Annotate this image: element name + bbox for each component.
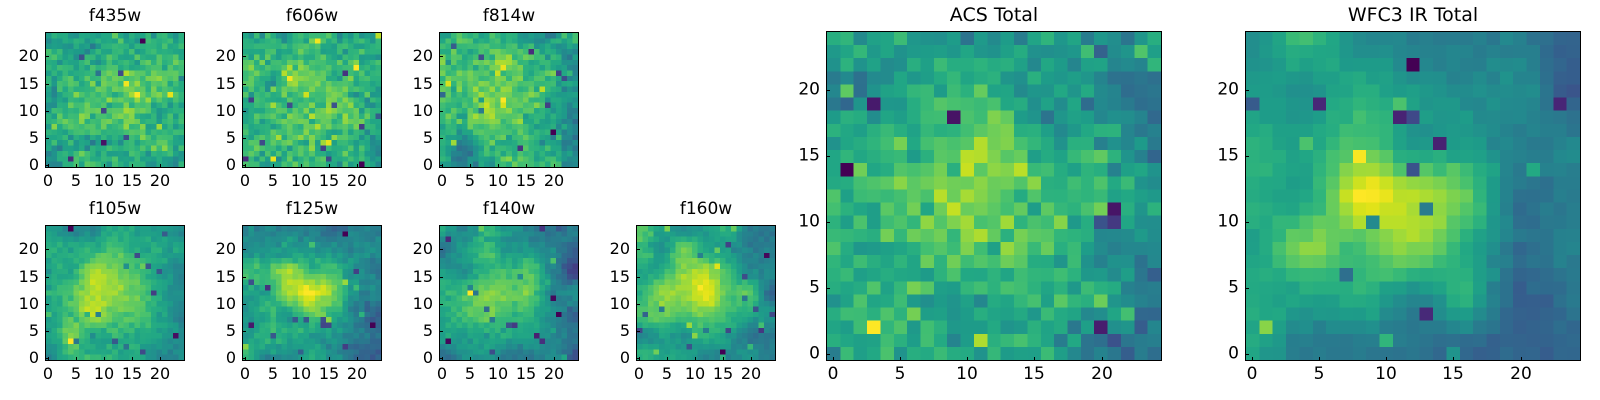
xtick-label: 0 — [437, 366, 447, 382]
heatmap-image-acs-total — [827, 32, 1161, 360]
xtick-label: 20 — [150, 173, 170, 189]
xtick-label: 20 — [544, 173, 564, 189]
ytick-label: 15 — [1199, 148, 1239, 165]
xtick-label: 0 — [437, 173, 447, 189]
ytick-label: 5 — [393, 323, 433, 339]
xtick-label: 10 — [94, 366, 114, 382]
ytick-label: 20 — [196, 48, 236, 64]
ytick-label: 20 — [0, 241, 39, 257]
ytick-label: 5 — [196, 130, 236, 146]
figure-canvas: f435w0510152005101520f606w05101520051015… — [0, 0, 1600, 400]
ytick-label: 10 — [780, 214, 820, 231]
ytick-label: 15 — [0, 76, 39, 92]
xtick-label: 10 — [685, 366, 705, 382]
ytick-label: 0 — [393, 157, 433, 173]
ytick-label: 5 — [1199, 280, 1239, 297]
xtick-label: 15 — [122, 366, 142, 382]
heatmap-image-f125w — [243, 226, 381, 360]
xtick-label: 5 — [895, 366, 906, 383]
xtick-label: 0 — [828, 366, 839, 383]
ytick-label: 5 — [196, 323, 236, 339]
panel-title-f160w: f160w — [636, 199, 776, 219]
ytick-label: 0 — [590, 350, 630, 366]
ytick-label: 0 — [780, 346, 820, 363]
ytick-label: 20 — [393, 241, 433, 257]
heatmap-axes-f125w[interactable] — [242, 225, 382, 361]
heatmap-image-f140w — [440, 226, 578, 360]
xtick-label: 0 — [43, 173, 53, 189]
ytick-label: 10 — [1199, 214, 1239, 231]
ytick-label: 5 — [393, 130, 433, 146]
panel-wfc3-ir-total: WFC3 IR Total0510152005101520 — [0, 0, 1600, 400]
heatmap-image-wfc3-ir-total — [1246, 32, 1580, 360]
ytick-label: 10 — [393, 103, 433, 119]
xtick-label: 0 — [43, 366, 53, 382]
heatmap-axes-f606w[interactable] — [242, 32, 382, 168]
xtick-label: 0 — [1247, 366, 1258, 383]
heatmap-axes-wfc3-ir-total[interactable] — [1245, 31, 1581, 361]
xtick-label: 10 — [488, 366, 508, 382]
xtick-label: 10 — [291, 173, 311, 189]
xtick-label: 10 — [956, 366, 978, 383]
xtick-label: 15 — [713, 366, 733, 382]
panel-title-f125w: f125w — [242, 199, 382, 219]
xtick-label: 15 — [319, 173, 339, 189]
heatmap-image-f814w — [440, 33, 578, 167]
ytick-label: 20 — [590, 241, 630, 257]
xtick-label: 5 — [465, 173, 475, 189]
ytick-label: 10 — [196, 103, 236, 119]
ytick-label: 20 — [0, 48, 39, 64]
heatmap-axes-acs-total[interactable] — [826, 31, 1162, 361]
heatmap-axes-f814w[interactable] — [439, 32, 579, 168]
xtick-label: 0 — [634, 366, 644, 382]
xtick-label: 20 — [1510, 366, 1532, 383]
ytick-label: 0 — [0, 350, 39, 366]
xtick-label: 20 — [1091, 366, 1113, 383]
ytick-label: 15 — [196, 76, 236, 92]
xtick-label: 15 — [319, 366, 339, 382]
xtick-label: 20 — [347, 366, 367, 382]
xtick-label: 10 — [94, 173, 114, 189]
ytick-label: 15 — [780, 148, 820, 165]
ytick-label: 15 — [393, 269, 433, 285]
xtick-label: 15 — [516, 366, 536, 382]
ytick-label: 20 — [196, 241, 236, 257]
heatmap-image-f105w — [46, 226, 184, 360]
xtick-label: 20 — [741, 366, 761, 382]
heatmap-image-f160w — [637, 226, 775, 360]
heatmap-axes-f435w[interactable] — [45, 32, 185, 168]
xtick-label: 10 — [291, 366, 311, 382]
ytick-label: 0 — [196, 157, 236, 173]
xtick-label: 5 — [71, 173, 81, 189]
ytick-label: 15 — [590, 269, 630, 285]
panel-title-f606w: f606w — [242, 6, 382, 26]
ytick-label: 10 — [590, 296, 630, 312]
xtick-label: 10 — [488, 173, 508, 189]
panel-title-acs-total: ACS Total — [826, 4, 1162, 26]
panel-title-f435w: f435w — [45, 6, 185, 26]
xtick-label: 5 — [268, 366, 278, 382]
ytick-label: 10 — [393, 296, 433, 312]
xtick-label: 0 — [240, 173, 250, 189]
ytick-label: 0 — [1199, 346, 1239, 363]
ytick-label: 15 — [196, 269, 236, 285]
ytick-label: 0 — [0, 157, 39, 173]
xtick-label: 20 — [150, 366, 170, 382]
ytick-label: 5 — [0, 130, 39, 146]
ytick-label: 15 — [0, 269, 39, 285]
ytick-label: 5 — [780, 280, 820, 297]
xtick-label: 20 — [347, 173, 367, 189]
xtick-label: 5 — [71, 366, 81, 382]
xtick-label: 15 — [1442, 366, 1464, 383]
ytick-label: 20 — [393, 48, 433, 64]
xtick-label: 15 — [1023, 366, 1045, 383]
xtick-label: 15 — [122, 173, 142, 189]
ytick-label: 10 — [0, 296, 39, 312]
ytick-label: 10 — [0, 103, 39, 119]
xtick-label: 5 — [268, 173, 278, 189]
heatmap-image-f435w — [46, 33, 184, 167]
ytick-label: 20 — [1199, 82, 1239, 99]
ytick-label: 20 — [780, 82, 820, 99]
heatmap-image-f606w — [243, 33, 381, 167]
ytick-label: 15 — [393, 76, 433, 92]
xtick-label: 0 — [240, 366, 250, 382]
ytick-label: 5 — [0, 323, 39, 339]
xtick-label: 10 — [1375, 366, 1397, 383]
heatmap-axes-f105w[interactable] — [45, 225, 185, 361]
xtick-label: 5 — [1314, 366, 1325, 383]
ytick-label: 0 — [393, 350, 433, 366]
ytick-label: 0 — [196, 350, 236, 366]
ytick-label: 5 — [590, 323, 630, 339]
xtick-label: 15 — [516, 173, 536, 189]
panel-title-f140w: f140w — [439, 199, 579, 219]
heatmap-axes-f160w[interactable] — [636, 225, 776, 361]
ytick-label: 10 — [196, 296, 236, 312]
xtick-label: 5 — [465, 366, 475, 382]
xtick-label: 20 — [544, 366, 564, 382]
xtick-label: 5 — [662, 366, 672, 382]
heatmap-axes-f140w[interactable] — [439, 225, 579, 361]
panel-title-f814w: f814w — [439, 6, 579, 26]
panel-title-f105w: f105w — [45, 199, 185, 219]
panel-title-wfc3-ir-total: WFC3 IR Total — [1245, 4, 1581, 26]
